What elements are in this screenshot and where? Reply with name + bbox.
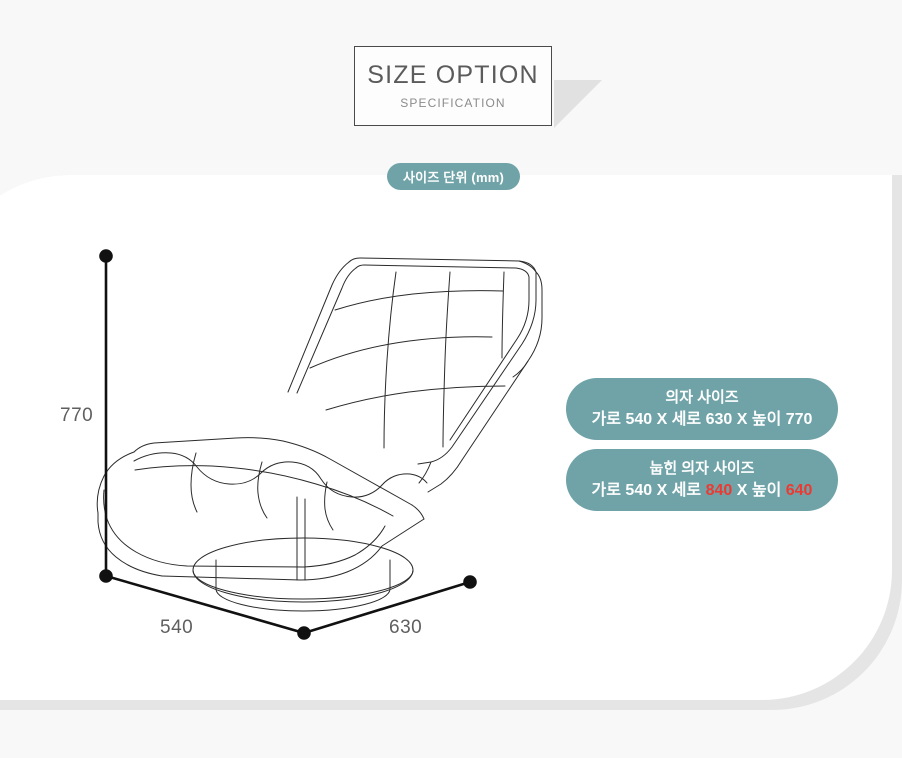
info-box-reclined-size: 눕힌 의자 사이즈 가로 540 X 세로 840 X 높이 640 — [566, 449, 838, 511]
info-box-title: 눕힌 의자 사이즈 — [650, 461, 755, 476]
info-box-standard-size: 의자 사이즈 가로 540 X 세로 630 X 높이 770 — [566, 378, 838, 440]
spec-value: 가로 540 X 세로 — [592, 482, 706, 499]
dimension-label-width: 540 — [160, 617, 193, 639]
info-box-spec: 가로 540 X 세로 840 X 높이 640 — [592, 483, 813, 499]
spec-value-highlighted: 640 — [786, 482, 813, 499]
page-root: SIZE OPTION SPECIFICATION 사이즈 단위 (mm) — [0, 0, 902, 758]
spec-value: 가로 540 X 세로 630 X 높이 770 — [592, 411, 813, 428]
info-box-title: 의자 사이즈 — [665, 390, 738, 405]
info-box-spec: 가로 540 X 세로 630 X 높이 770 — [592, 412, 813, 428]
dimension-label-depth: 630 — [389, 617, 422, 639]
spec-value-highlighted: 840 — [706, 482, 733, 499]
dimension-label-height: 770 — [60, 405, 93, 427]
spec-value: X 높이 — [732, 482, 785, 499]
